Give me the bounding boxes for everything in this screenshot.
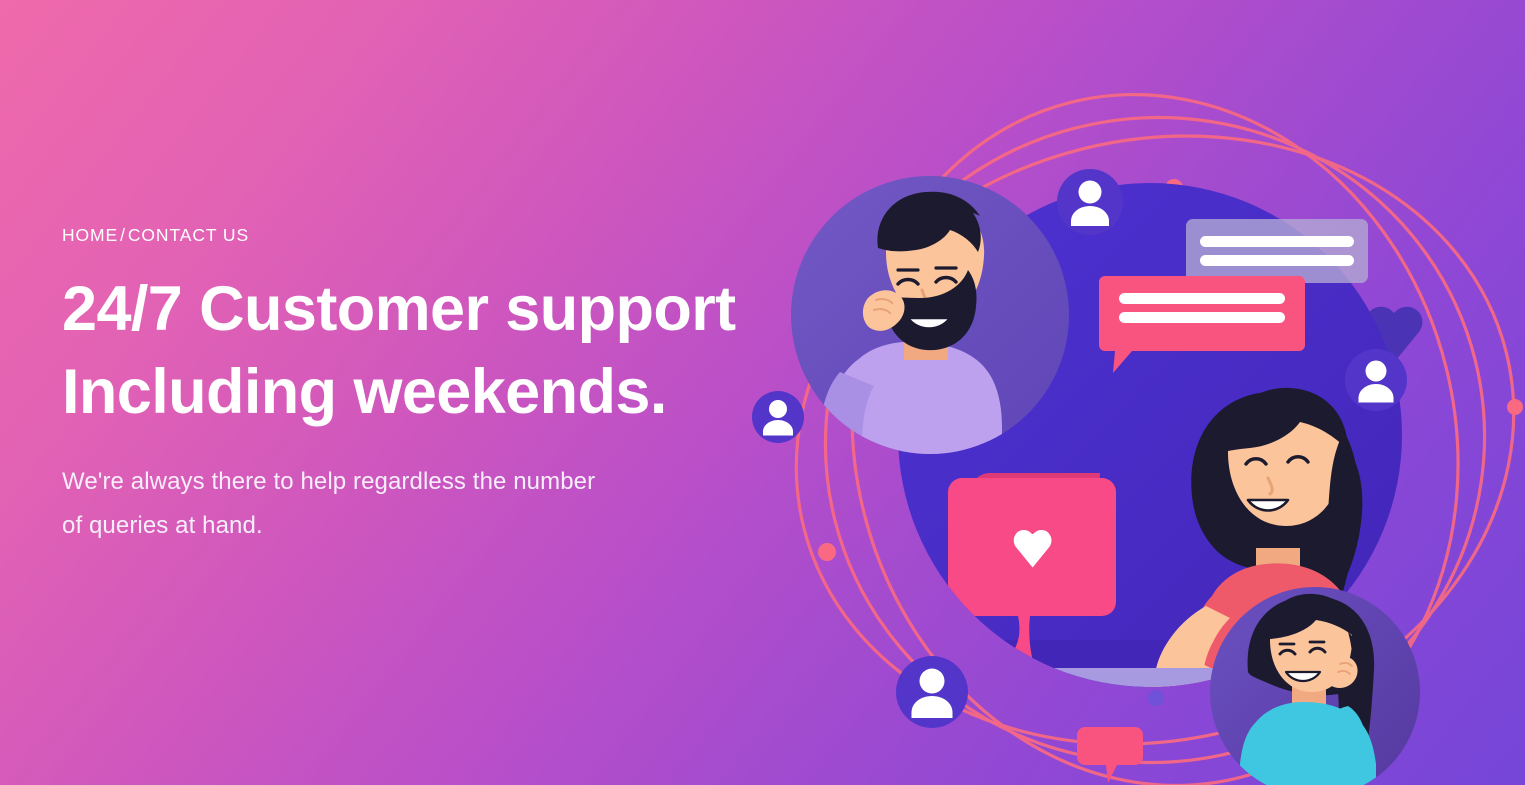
page-subtitle-line-1: We're always there to help regardless th… [62, 460, 822, 504]
page-title: 24/7 Customer support Including weekends… [62, 268, 822, 434]
hero-banner: HOME/CONTACT US 24/7 Customer support In… [0, 0, 1525, 785]
avatar-badge-right [1345, 349, 1407, 411]
avatar-badge-top [1057, 169, 1123, 235]
avatar-badge-bottom-left [896, 656, 968, 728]
breadcrumb-home[interactable]: HOME [62, 225, 118, 245]
breadcrumb-separator: / [118, 225, 128, 245]
hero-copy: HOME/CONTACT US 24/7 Customer support In… [62, 225, 822, 548]
customer-support-illustration [700, 0, 1525, 785]
page-title-line-1: 24/7 Customer support [62, 268, 822, 351]
page-subtitle: We're always there to help regardless th… [62, 460, 822, 548]
page-title-line-2: Including weekends. [62, 351, 822, 434]
chat-bubble-lavender [1186, 219, 1368, 283]
page-subtitle-line-2: of queries at hand. [62, 504, 822, 548]
breadcrumb: HOME/CONTACT US [62, 225, 822, 246]
chat-bubble-small [1077, 727, 1143, 783]
breadcrumb-current: CONTACT US [128, 225, 249, 245]
